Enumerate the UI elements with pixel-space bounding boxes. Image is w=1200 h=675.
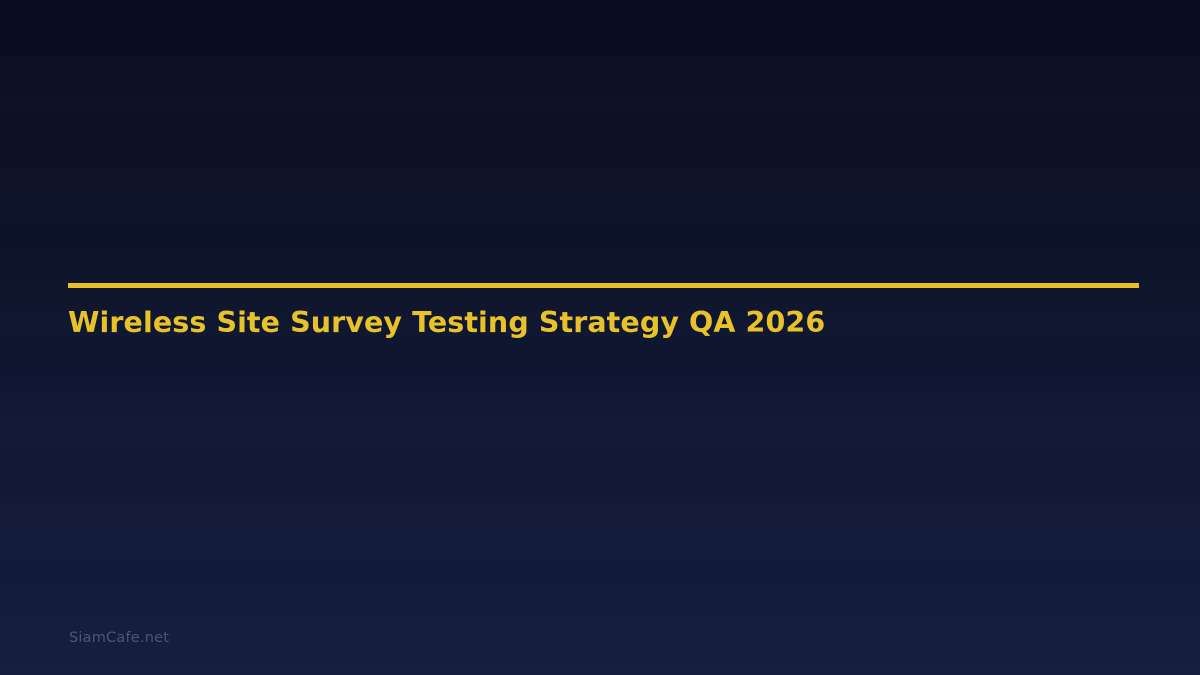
footer-watermark: SiamCafe.net	[69, 630, 169, 646]
page-title: Wireless Site Survey Testing Strategy QA…	[68, 288, 1139, 340]
title-block: Wireless Site Survey Testing Strategy QA…	[68, 283, 1139, 340]
slide-canvas: Wireless Site Survey Testing Strategy QA…	[0, 0, 1200, 675]
